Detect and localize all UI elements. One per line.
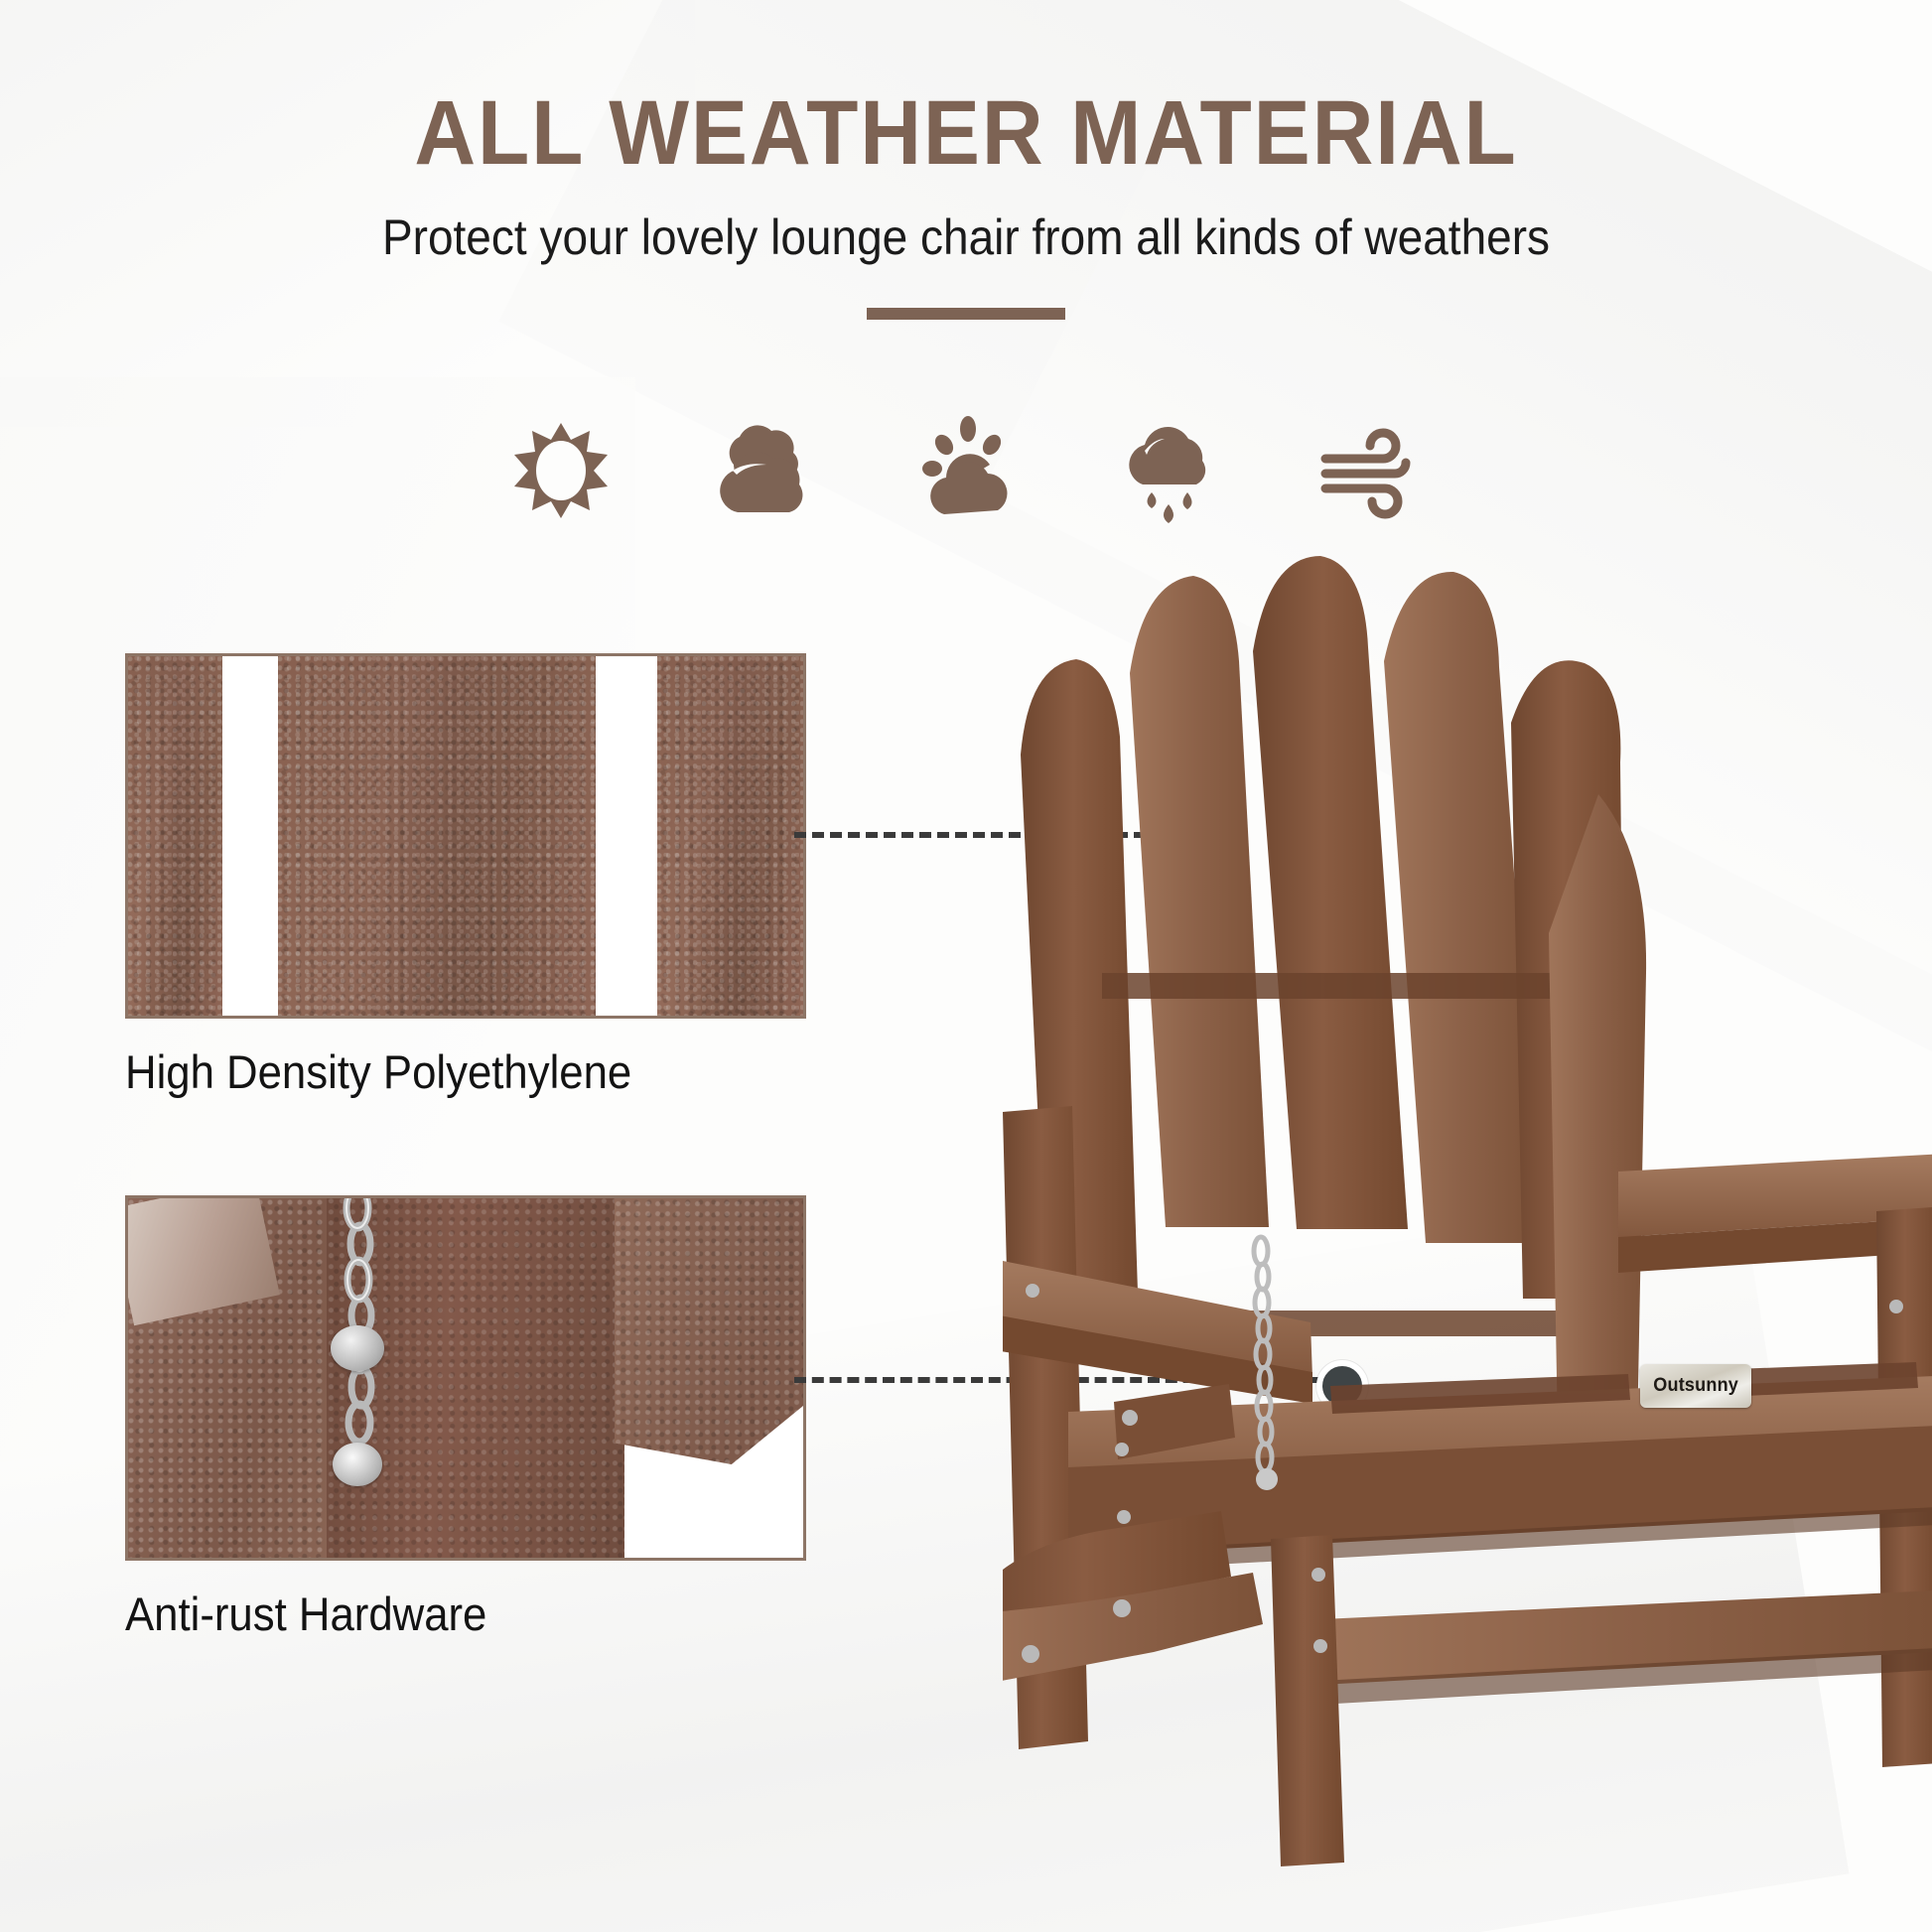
wood-panel-right bbox=[615, 1198, 803, 1464]
adirondack-chair-product-image bbox=[1003, 556, 1932, 1866]
slat bbox=[657, 656, 803, 1016]
background-sheen-left bbox=[0, 377, 635, 1866]
brand-badge-outsunny: Outsunny bbox=[1640, 1364, 1751, 1408]
page-subtitle: Protect your lovely lounge chair from al… bbox=[77, 212, 1855, 262]
sun-icon bbox=[497, 409, 624, 526]
hdpe-detail-image bbox=[125, 653, 806, 1019]
wind-icon bbox=[1308, 409, 1435, 526]
chair-lower-rail bbox=[1301, 1590, 1932, 1706]
chain-anchor-plate bbox=[331, 1325, 384, 1371]
slat bbox=[278, 656, 596, 1016]
hdpe-slat-texture bbox=[128, 656, 803, 1016]
partly-cloudy-icon bbox=[902, 409, 1030, 526]
callout-high-density-polyethylene: High Density Polyethylene bbox=[125, 653, 806, 1099]
weather-icon-row bbox=[0, 409, 1932, 526]
chair-chain-anchor bbox=[1256, 1468, 1278, 1490]
header-block: ALL WEATHER MATERIAL Protect your lovely… bbox=[0, 0, 1932, 320]
hardware-detail-image bbox=[125, 1195, 806, 1561]
callout-anti-rust-hardware: Anti-rust Hardware bbox=[125, 1195, 806, 1641]
slat-gap bbox=[222, 656, 278, 1016]
slat-gap bbox=[596, 656, 657, 1016]
chair-back-slats bbox=[1021, 556, 1626, 1299]
chair-front-leg-left bbox=[1271, 1535, 1344, 1866]
chain-hardware-photo bbox=[128, 1198, 803, 1558]
hdpe-caption: High Density Polyethylene bbox=[125, 1044, 759, 1099]
cloudy-icon bbox=[700, 409, 827, 526]
screw-head bbox=[333, 1443, 382, 1486]
slat bbox=[128, 656, 222, 1016]
brand-badge-label: Outsunny bbox=[1653, 1375, 1738, 1397]
rain-cloud-icon bbox=[1105, 409, 1232, 526]
page-title: ALL WEATHER MATERIAL bbox=[68, 87, 1864, 179]
title-divider bbox=[867, 308, 1065, 320]
hardware-caption: Anti-rust Hardware bbox=[125, 1587, 759, 1641]
infographic-canvas: ALL WEATHER MATERIAL Protect your lovely… bbox=[0, 0, 1932, 1932]
